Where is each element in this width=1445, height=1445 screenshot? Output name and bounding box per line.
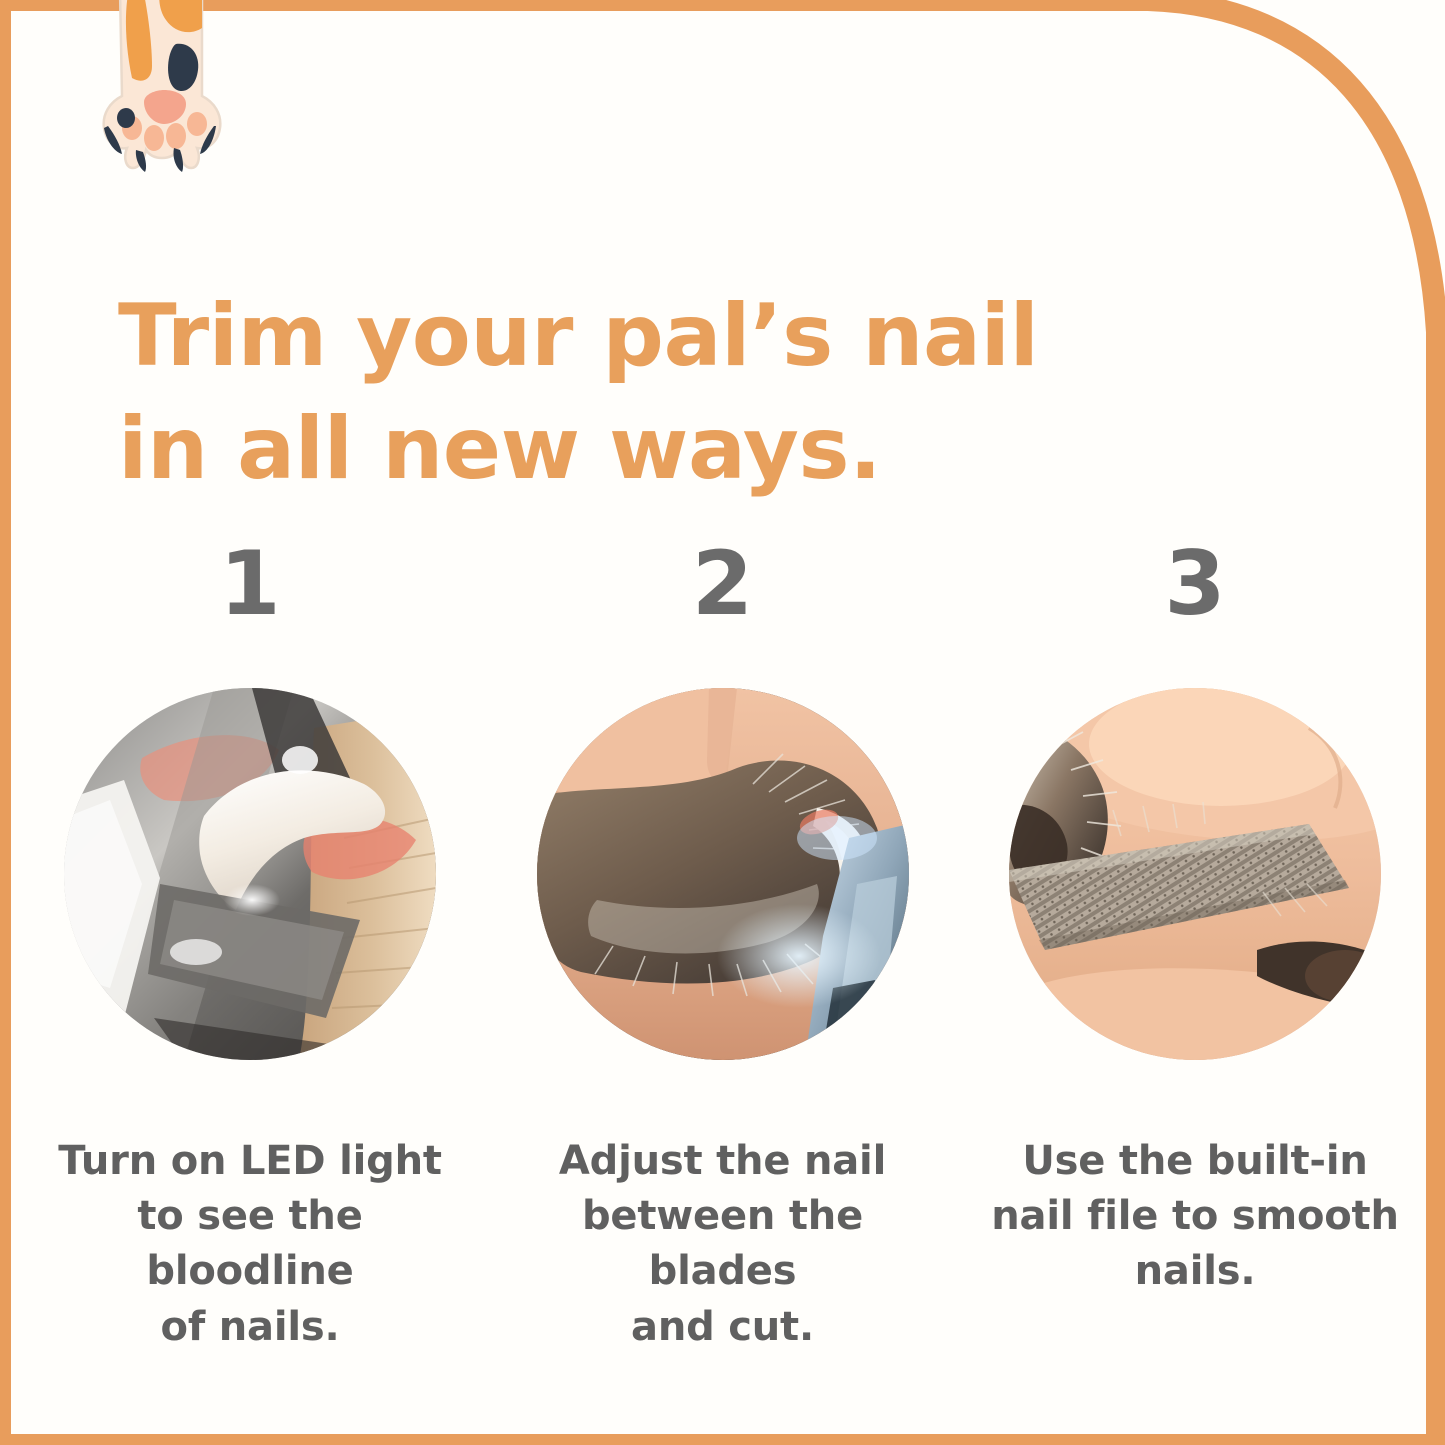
caption-3-line-2: nail file to smooth [985,1189,1405,1244]
poster-root: Trim your pal’s nail in all new ways. 1 [0,0,1445,1445]
caption-1-line-3: of nails. [40,1300,460,1355]
photo-led-light-on-claw [64,688,436,1060]
steps-row: 1 [30,540,1415,1355]
step-caption-3: Use the built-in nail file to smooth nai… [985,1134,1405,1300]
caption-3-line-3: nails. [985,1244,1405,1299]
paw-toe-bean-4 [187,112,207,136]
photo-1-image [64,688,436,1060]
caption-2-line-3: and cut. [513,1300,933,1355]
step-caption-2: Adjust the nail between the blades and c… [513,1134,933,1355]
photo-nail-between-blades [537,688,909,1060]
step-number-1: 1 [219,540,280,636]
paw-shape [104,0,221,172]
step-3: 3 [975,540,1415,1300]
step-number-2: 2 [692,540,753,636]
paw-spot-dark [117,108,135,128]
caption-2-line-2: between the blades [513,1189,933,1299]
photo-2-image [537,688,909,1060]
caption-3-line-1: Use the built-in [985,1134,1405,1189]
cat-paw-icon [98,0,226,172]
cat-paw-decoration [98,0,226,172]
photo-built-in-nail-file [1009,688,1381,1060]
paw-toe-bean-2 [144,125,164,151]
step-1: 1 [30,540,470,1355]
caption-1-line-1: Turn on LED light [40,1134,460,1189]
step-caption-1: Turn on LED light to see the bloodline o… [40,1134,460,1355]
photo-3-image [1009,688,1381,1060]
page-title: Trim your pal’s nail in all new ways. [118,280,1018,507]
step-number-3: 3 [1164,540,1225,636]
paw-toe-bean-3 [166,123,186,149]
headline-line-2: in all new ways. [118,393,1018,507]
caption-1-line-2: to see the bloodline [40,1189,460,1299]
caption-2-line-1: Adjust the nail [513,1134,933,1189]
headline-line-1: Trim your pal’s nail [118,280,1018,394]
step-2: 2 [503,540,943,1355]
